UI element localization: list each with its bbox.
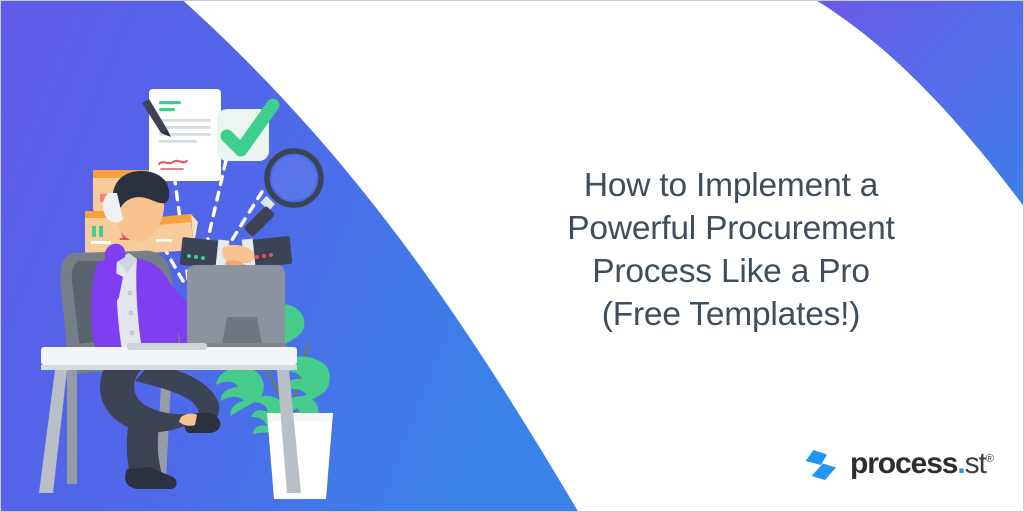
headline-line-4: (Free Templates!) — [602, 296, 860, 333]
logo-word-process: process — [850, 447, 957, 480]
desktop-monitor — [187, 265, 287, 355]
process-st-wordmark: process.st® — [850, 449, 993, 479]
procurement-workflow-illustration — [31, 81, 371, 501]
signed-document-icon — [142, 89, 221, 181]
logo-word-dot: . — [957, 447, 964, 480]
page-title: How to Implement a Powerful Procurement … — [521, 164, 941, 336]
logo-word-st: st — [965, 447, 986, 480]
process-st-logo[interactable]: process.st® — [801, 448, 993, 482]
process-st-logo-mark — [801, 448, 839, 482]
headline-line-1: How to Implement a — [584, 167, 878, 204]
headline-line-2: Powerful Procurement — [567, 210, 894, 247]
logo-registered-mark: ® — [986, 453, 993, 465]
blog-header-banner: How to Implement a Powerful Procurement … — [0, 0, 1024, 512]
headline-line-3: Process Like a Pro — [592, 253, 870, 290]
checkmark-icon — [217, 105, 273, 161]
magnifying-glass-icon — [243, 151, 321, 237]
